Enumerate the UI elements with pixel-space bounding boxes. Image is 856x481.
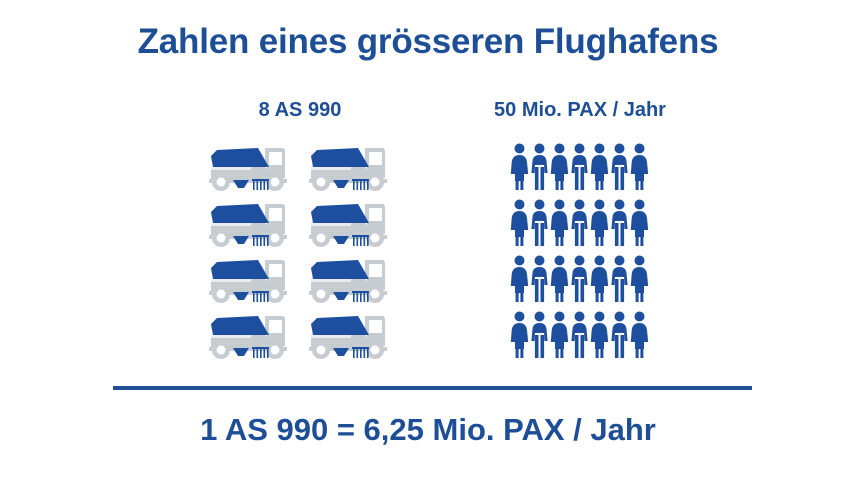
person-icon [630,255,650,311]
person-icon [550,143,570,199]
street-sweeper-icon [303,140,403,196]
street-sweeper-icon [203,308,303,364]
person-icon [630,311,650,367]
person-icon [530,255,550,311]
person-icon [530,311,550,367]
person-icon [570,143,590,199]
street-sweeper-icon [203,140,303,196]
person-icon [570,199,590,255]
person-icon [590,255,610,311]
footer-equation: 1 AS 990 = 6,25 Mio. PAX / Jahr [0,412,856,448]
sweeper-vehicle-grid [203,140,403,364]
person-icon [590,311,610,367]
street-sweeper-icon [303,196,403,252]
person-icon [550,311,570,367]
street-sweeper-icon [303,252,403,308]
person-icon [530,143,550,199]
person-icon [570,255,590,311]
person-icon [510,199,530,255]
person-icon [510,143,530,199]
person-icon [610,311,630,367]
person-icon [510,255,530,311]
infographic-slide: Zahlen eines grösseren Flughafens 8 AS 9… [0,0,856,481]
right-column-heading: 50 Mio. PAX / Jahr [450,99,710,122]
person-icon [510,311,530,367]
person-icon [570,311,590,367]
page-title: Zahlen eines grösseren Flughafens [0,22,856,62]
person-icon [610,255,630,311]
street-sweeper-icon [303,308,403,364]
person-icon [630,143,650,199]
passenger-people-grid [510,143,650,367]
person-icon [610,143,630,199]
person-icon [550,199,570,255]
left-column-heading: 8 AS 990 [180,99,420,122]
person-icon [530,199,550,255]
street-sweeper-icon [203,252,303,308]
person-icon [630,199,650,255]
person-icon [590,143,610,199]
person-icon [550,255,570,311]
section-divider [113,386,752,390]
street-sweeper-icon [203,196,303,252]
person-icon [590,199,610,255]
person-icon [610,199,630,255]
